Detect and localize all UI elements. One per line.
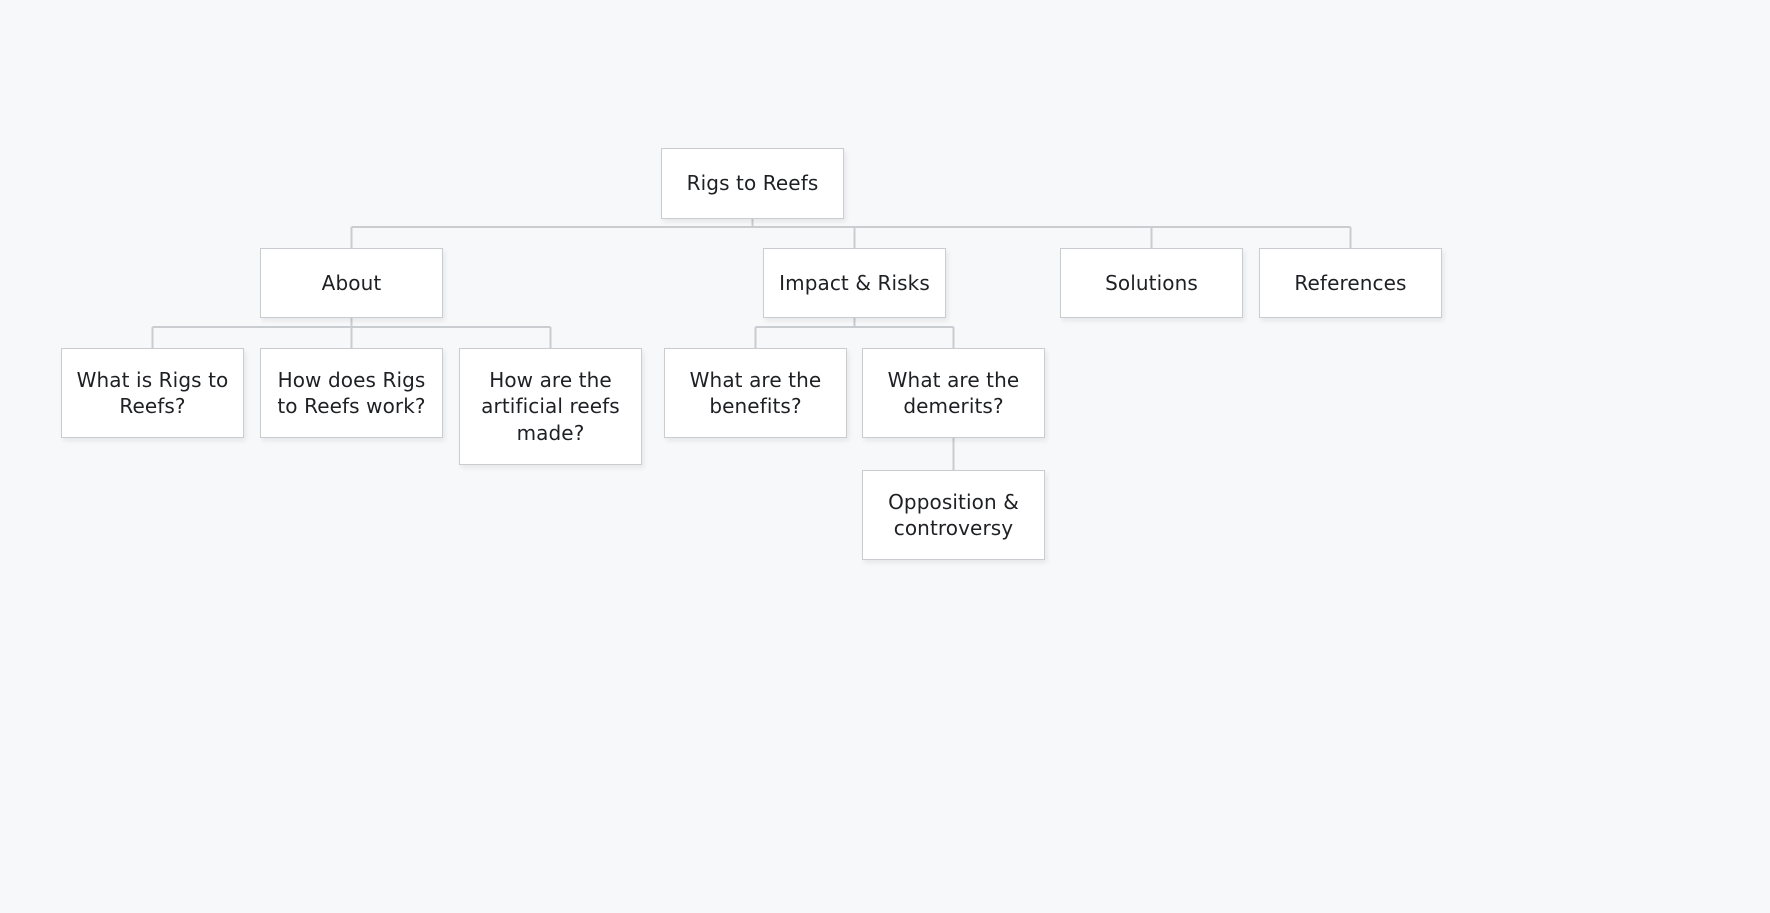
node-label: Impact & Risks bbox=[774, 270, 935, 296]
node-how-are-artificial-reefs-made[interactable]: How are the artificial reefs made? bbox=[459, 348, 642, 465]
node-solutions[interactable]: Solutions bbox=[1060, 248, 1243, 318]
node-label: Opposition & controversy bbox=[873, 489, 1034, 542]
node-what-are-the-demerits[interactable]: What are the demerits? bbox=[862, 348, 1045, 438]
node-label: Rigs to Reefs bbox=[672, 170, 833, 196]
node-label: How are the artificial reefs made? bbox=[470, 367, 631, 446]
node-label: Solutions bbox=[1071, 270, 1232, 296]
mindmap-canvas: Rigs to Reefs About Impact & Risks Solut… bbox=[0, 0, 1770, 913]
node-how-does-rigs-to-reefs-work[interactable]: How does Rigs to Reefs work? bbox=[260, 348, 443, 438]
node-about[interactable]: About bbox=[260, 248, 443, 318]
node-root[interactable]: Rigs to Reefs bbox=[661, 148, 844, 219]
node-label: References bbox=[1270, 270, 1431, 296]
node-label: What are the demerits? bbox=[873, 367, 1034, 420]
node-what-is-rigs-to-reefs[interactable]: What is Rigs to Reefs? bbox=[61, 348, 244, 438]
node-opposition-controversy[interactable]: Opposition & controversy bbox=[862, 470, 1045, 560]
node-label: What are the benefits? bbox=[675, 367, 836, 420]
node-label: How does Rigs to Reefs work? bbox=[271, 367, 432, 420]
node-what-are-the-benefits[interactable]: What are the benefits? bbox=[664, 348, 847, 438]
node-label: What is Rigs to Reefs? bbox=[72, 367, 233, 420]
node-references[interactable]: References bbox=[1259, 248, 1442, 318]
node-impact-risks[interactable]: Impact & Risks bbox=[763, 248, 946, 318]
connector-lines bbox=[0, 0, 1770, 913]
node-label: About bbox=[271, 270, 432, 296]
